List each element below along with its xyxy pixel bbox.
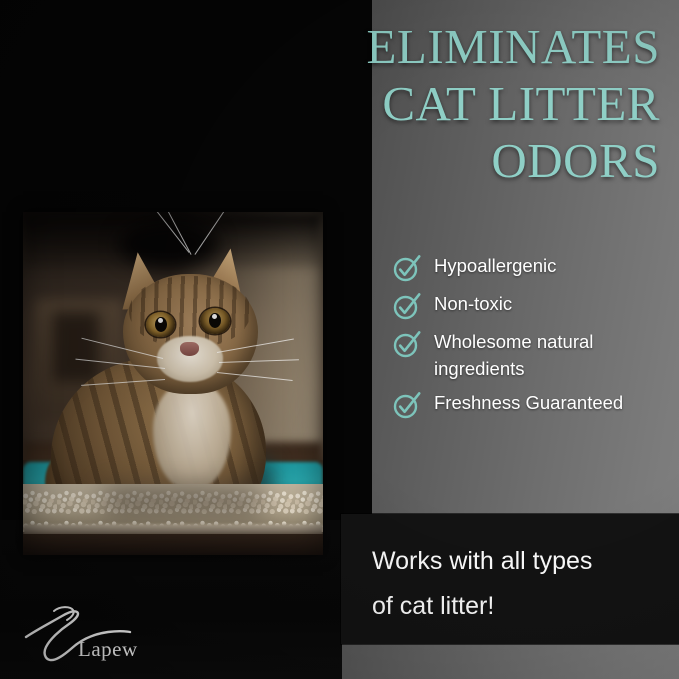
headline-line-3: ODORS <box>300 132 660 189</box>
feature-list: Hypoallergenic Non-toxic Wholesome natur… <box>392 252 672 427</box>
brand-logo: Lapew <box>24 603 149 665</box>
callout-box: Works with all types of cat litter! <box>341 514 679 644</box>
callout-line-1: Works with all types <box>372 539 662 584</box>
callout-text: Works with all types of cat litter! <box>372 539 662 629</box>
feature-label: Hypoallergenic <box>434 252 556 279</box>
callout-line-2: of cat litter! <box>372 584 662 629</box>
feature-item: Freshness Guaranteed <box>392 389 672 420</box>
kitten-left-eye-glint <box>158 318 163 323</box>
headline-line-1: ELIMINATES <box>300 18 660 75</box>
feature-label: Wholesome natural ingredients <box>434 328 660 382</box>
feature-item: Wholesome natural ingredients <box>392 328 672 382</box>
brand-wordmark: Lapew <box>78 637 138 662</box>
feature-label: Non-toxic <box>434 290 512 317</box>
photo-foreground-floor <box>23 534 323 555</box>
headline: ELIMINATES CAT LITTER ODORS <box>300 18 660 189</box>
photo-litter-shadow <box>103 486 263 516</box>
feature-item: Hypoallergenic <box>392 252 672 283</box>
feature-item: Non-toxic <box>392 290 672 321</box>
kitten-right-eye-glint <box>212 314 217 319</box>
feature-label: Freshness Guaranteed <box>434 389 623 416</box>
kitten-chest <box>153 380 231 490</box>
check-circle-icon <box>392 253 422 283</box>
check-circle-icon <box>392 390 422 420</box>
kitten-litter-box-photo <box>23 212 323 555</box>
check-circle-icon <box>392 291 422 321</box>
headline-line-2: CAT LITTER <box>300 75 660 132</box>
kitten-nose <box>180 342 199 356</box>
check-circle-icon <box>392 329 422 359</box>
advertisement-canvas: ELIMINATES CAT LITTER ODORS Hypoallergen… <box>0 0 679 679</box>
